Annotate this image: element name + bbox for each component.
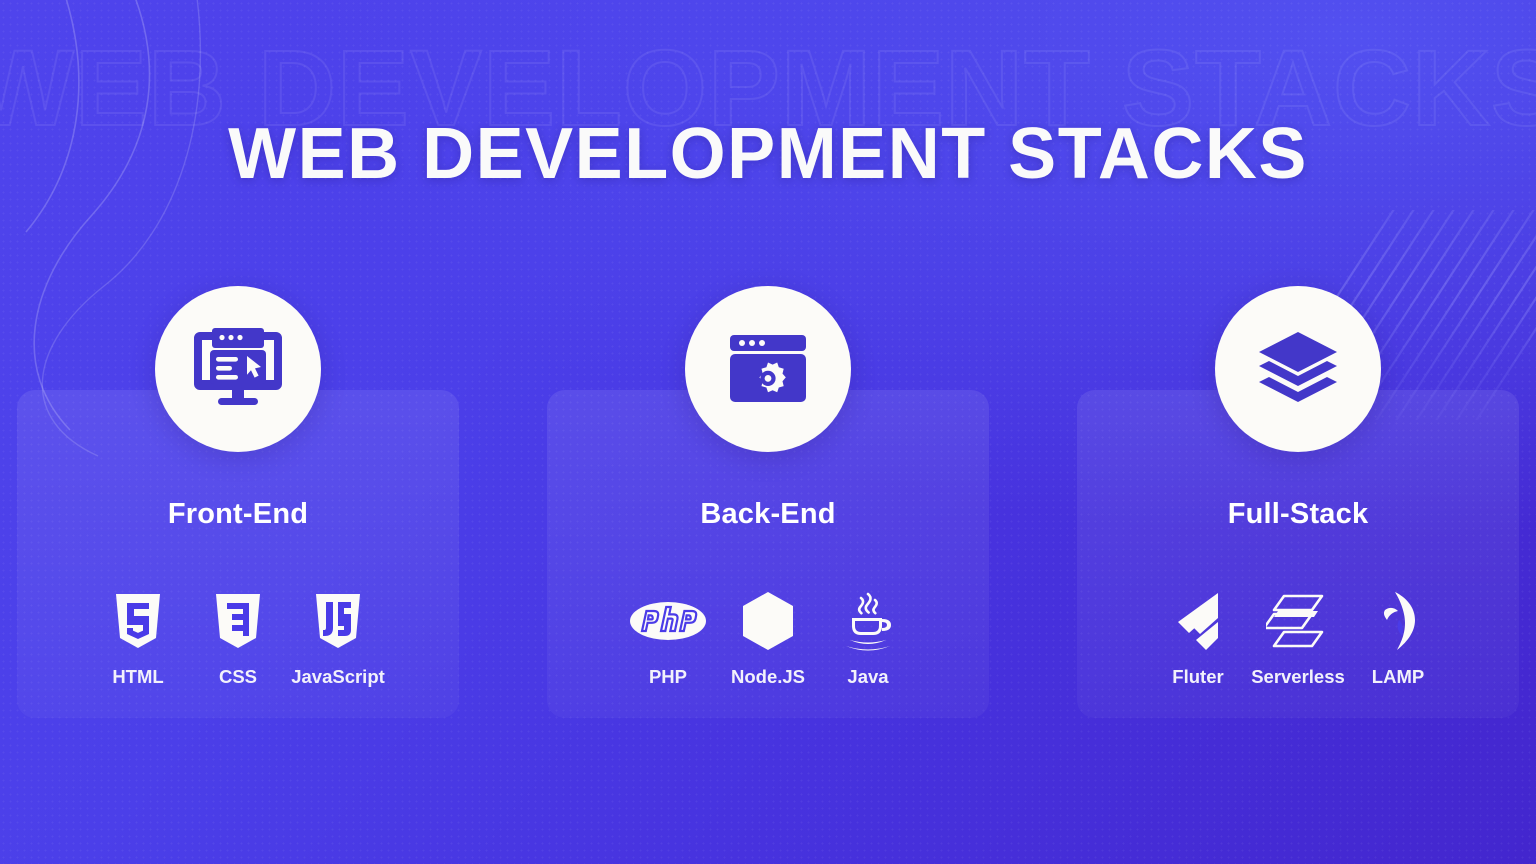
lamp-feather-icon xyxy=(1375,590,1421,652)
tech-label: PHP xyxy=(649,666,687,688)
stack-card-back-end[interactable]: Back-End PHP xyxy=(547,390,989,718)
tech-label: Java xyxy=(847,666,888,688)
tech-item[interactable]: LAMP xyxy=(1348,590,1448,688)
tech-item[interactable]: Serverless xyxy=(1248,590,1348,688)
stack-card-full-stack[interactable]: Full-Stack xyxy=(1077,390,1519,718)
php-ellipse-icon xyxy=(629,590,707,652)
flutter-chevron-icon xyxy=(1172,590,1224,652)
tech-item[interactable]: Node.JS xyxy=(718,590,818,688)
html5-shield-icon xyxy=(113,590,163,652)
browser-gear-icon xyxy=(685,286,851,452)
stacked-layers-icon xyxy=(1215,286,1381,452)
tech-item[interactable]: PHP xyxy=(618,590,718,688)
tech-item[interactable]: JavaScript xyxy=(288,590,388,688)
tech-label: Fluter xyxy=(1172,666,1223,688)
stack-cards-row: Front-End HTML xyxy=(0,390,1536,718)
card-title: Front-End xyxy=(17,498,459,531)
css3-shield-icon xyxy=(213,590,263,652)
card-title: Back-End xyxy=(547,498,989,531)
tech-list: HTML CSS xyxy=(17,590,459,688)
tech-label: Serverless xyxy=(1251,666,1345,688)
javascript-shield-icon xyxy=(313,590,363,652)
tech-label: CSS xyxy=(219,666,257,688)
nodejs-hexagon-icon xyxy=(741,590,795,652)
tech-list: Fluter Serve xyxy=(1077,590,1519,688)
tech-label: LAMP xyxy=(1372,666,1424,688)
tech-item[interactable]: Java xyxy=(818,590,918,688)
tech-item[interactable]: CSS xyxy=(188,590,288,688)
tech-list: PHP Node.JS xyxy=(547,590,989,688)
tech-label: Node.JS xyxy=(731,666,805,688)
java-coffee-cup-icon xyxy=(839,590,897,652)
monitor-browser-cursor-icon xyxy=(155,286,321,452)
page-title: WEB DEVELOPMENT STACKS xyxy=(0,118,1536,190)
tech-item[interactable]: HTML xyxy=(88,590,188,688)
serverless-logo-icon xyxy=(1266,590,1330,652)
tech-item[interactable]: Fluter xyxy=(1148,590,1248,688)
slide-background: WEB DEVELOPMENT STACKS WEB DEVELOPMENT S… xyxy=(0,0,1536,864)
card-title: Full-Stack xyxy=(1077,498,1519,531)
stack-card-front-end[interactable]: Front-End HTML xyxy=(17,390,459,718)
tech-label: HTML xyxy=(112,666,163,688)
tech-label: JavaScript xyxy=(291,666,385,688)
